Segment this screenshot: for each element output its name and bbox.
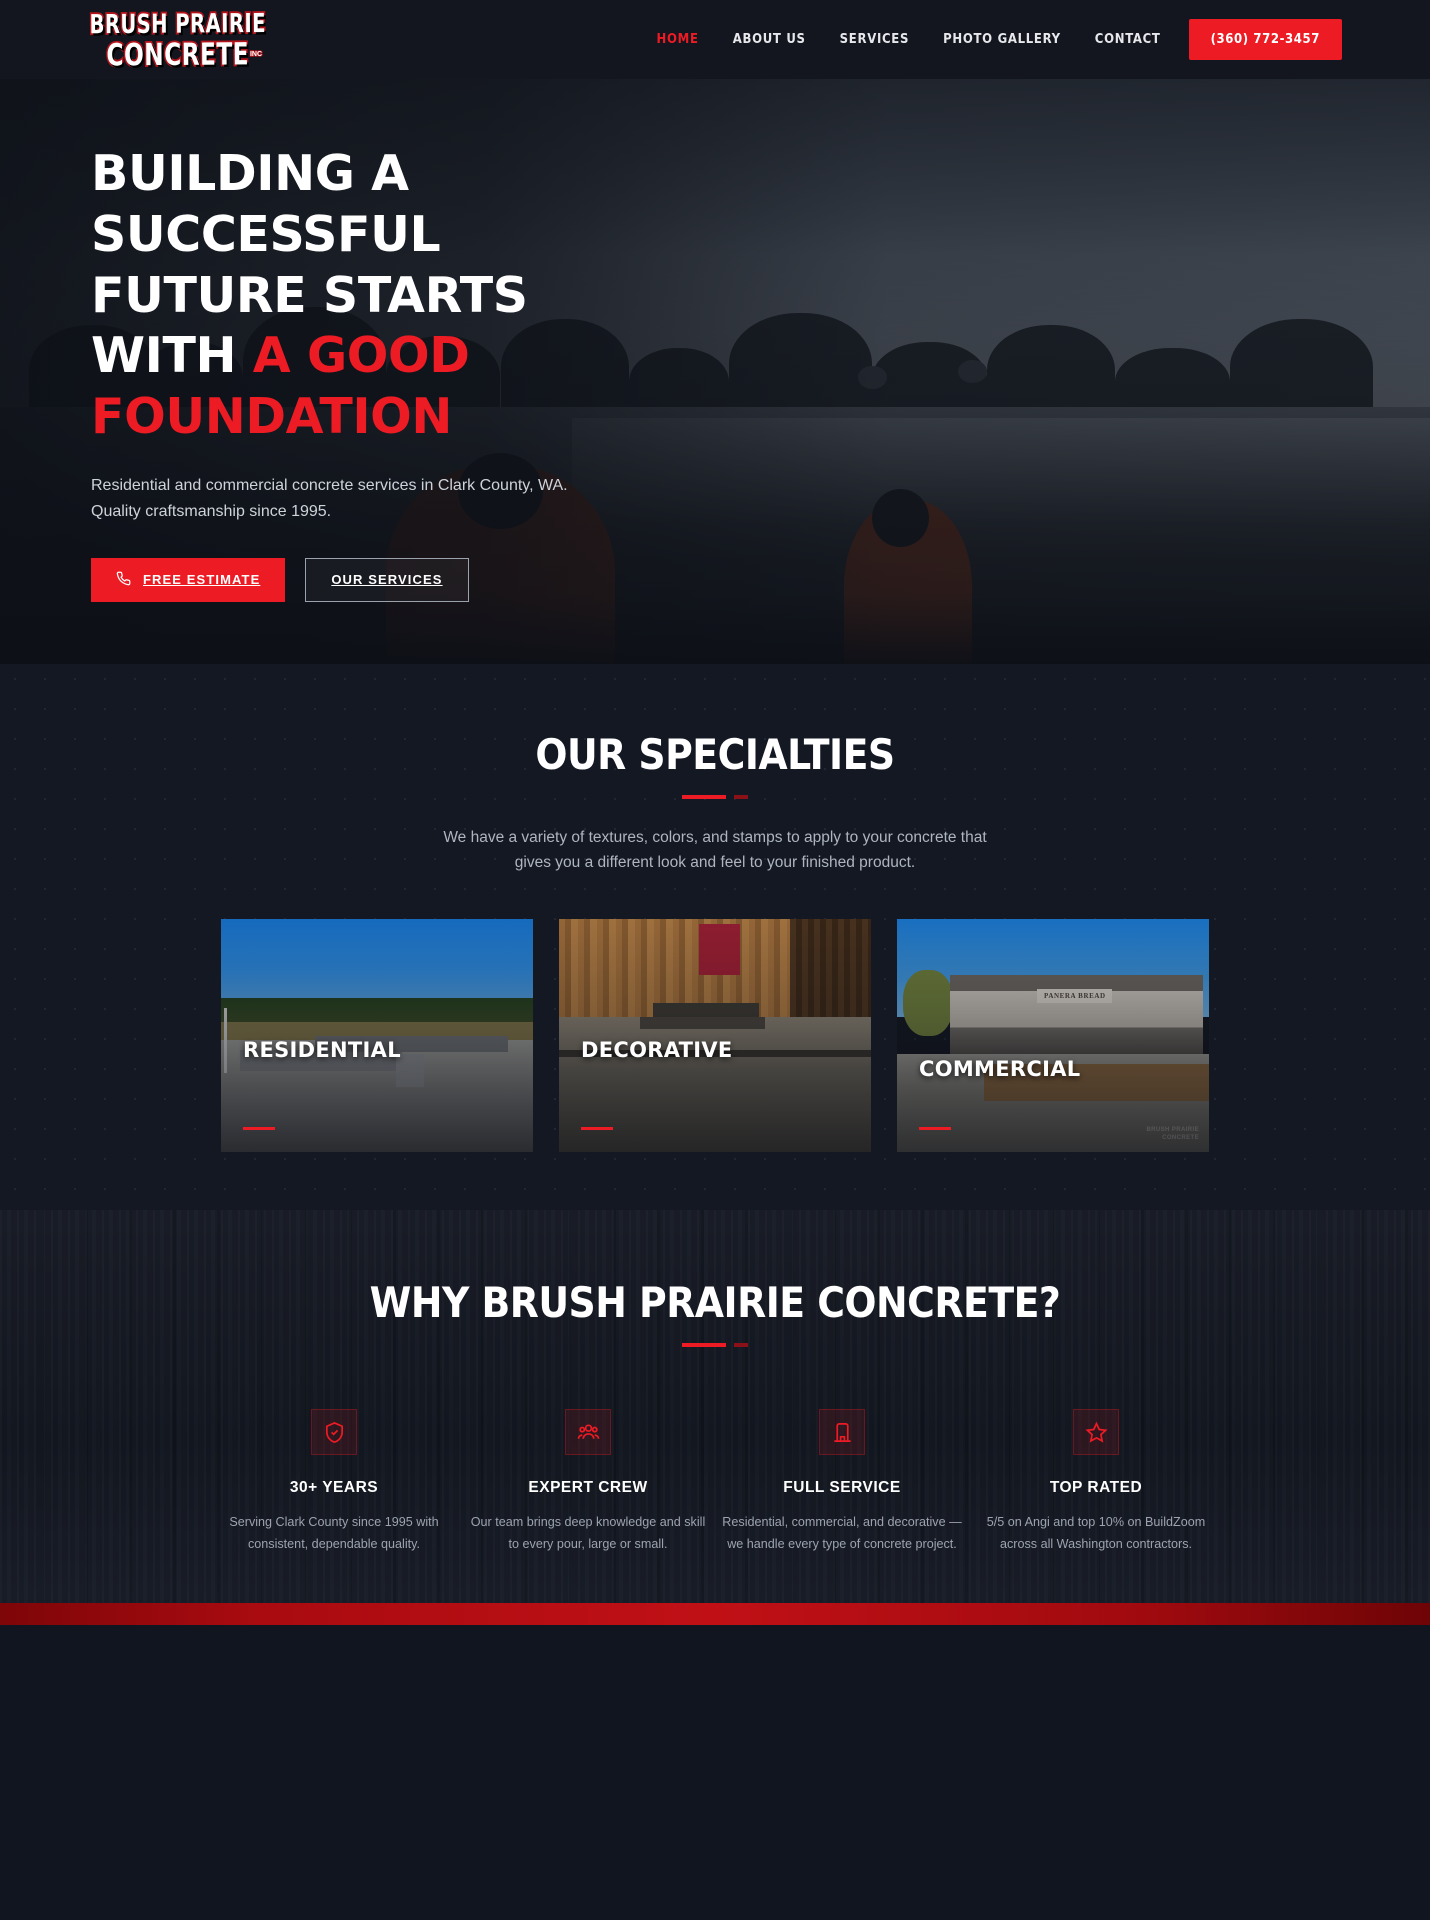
hero-heading-highlight-1: A GOOD [253,327,470,384]
feature-30-plus-years: 30+ YEARS Serving Clark County since 199… [207,1409,461,1555]
shield-check-icon [311,1409,357,1455]
site-header: BRUSH PRAIRIE CONCRETE INC HOME ABOUT US… [0,0,1430,79]
logo-line-1: BRUSH PRAIRIE [90,10,267,37]
feature-description: Our team brings deep knowledge and skill… [465,1511,711,1555]
specialties-divider [681,795,749,799]
specialties-section: OUR SPECIALTIES We have a variety of tex… [0,664,1430,1210]
hero-button-group: FREE ESTIMATE OUR SERVICES [91,558,1430,602]
free-estimate-button-label: FREE ESTIMATE [143,572,260,587]
feature-full-service: FULL SERVICE Residential, commercial, an… [715,1409,969,1555]
building-icon [819,1409,865,1455]
feature-title: EXPERT CREW [465,1479,711,1497]
hero-subtitle-line-2: Quality craftsmanship since 1995. [91,503,331,520]
feature-title: 30+ YEARS [211,1479,457,1497]
footer-red-strip [0,1603,1430,1625]
logo-line-2: CONCRETE [107,38,250,69]
feature-title: FULL SERVICE [719,1479,965,1497]
feature-title: TOP RATED [973,1479,1219,1497]
feature-list: 30+ YEARS Serving Clark County since 199… [0,1409,1430,1555]
specialty-card-residential[interactable]: RESIDENTIAL [221,919,533,1152]
hero-section: BUILDING A SUCCESSFUL FUTURE STARTS WITH… [0,79,1430,664]
specialty-card-accent-bar [581,1127,613,1130]
why-title: WHY BRUSH PRAIRIE CONCRETE? [0,1278,1430,1327]
feature-top-rated: TOP RATED 5/5 on Angi and top 10% on Bui… [969,1409,1223,1555]
free-estimate-button[interactable]: FREE ESTIMATE [91,558,285,602]
feature-description: Residential, commercial, and decorative … [719,1511,965,1555]
feature-description: 5/5 on Angi and top 10% on BuildZoomacro… [973,1511,1219,1555]
logo-inc-suffix: INC [250,51,262,58]
nav-item-about-us[interactable]: ABOUT US [733,32,806,47]
nav-item-contact[interactable]: CONTACT [1095,32,1161,47]
star-icon [1073,1409,1119,1455]
hero-heading-line-2: SUCCESSFUL [91,206,440,263]
hero-subtitle: Residential and commercial concrete serv… [91,473,611,525]
header-phone-button[interactable]: (360) 772-3457 [1189,19,1342,60]
specialties-description: We have a variety of textures, colors, a… [415,825,1015,875]
site-logo[interactable]: BRUSH PRAIRIE CONCRETE INC [88,9,268,71]
nav-item-home[interactable]: HOME [657,32,699,47]
why-choose-us-section: WHY BRUSH PRAIRIE CONCRETE? 30+ YEARS Se… [0,1210,1430,1625]
specialty-card-decorative[interactable]: DECORATIVE [559,919,871,1152]
specialty-card-label: RESIDENTIAL [243,1038,401,1062]
nav-item-photo-gallery[interactable]: PHOTO GALLERY [943,32,1061,47]
specialty-card-label: DECORATIVE [581,1038,733,1062]
specialty-card-list: RESIDENTIAL DECORATIVE [0,919,1430,1152]
feature-description: Serving Clark County since 1995 withcons… [211,1511,457,1555]
why-divider [681,1343,749,1347]
nav-item-services[interactable]: SERVICES [840,32,909,47]
specialties-description-line-1: We have a variety of textures, colors, a… [443,829,986,846]
hero-heading-line-4: WITH [91,327,253,384]
hero-heading-line-3: FUTURE STARTS [91,267,528,324]
specialties-description-line-2: gives you a different look and feel to y… [515,854,915,871]
hero-subtitle-line-1: Residential and commercial concrete serv… [91,477,568,494]
feature-expert-crew: EXPERT CREW Our team brings deep knowled… [461,1409,715,1555]
specialty-card-accent-bar [243,1127,275,1130]
specialty-card-label: COMMERCIAL [919,1057,1080,1081]
phone-icon [116,571,131,589]
hero-heading-line-1: BUILDING A [91,145,409,202]
our-services-button-label: OUR SERVICES [331,572,442,587]
users-icon [565,1409,611,1455]
specialties-title: OUR SPECIALTIES [0,730,1430,779]
hero-heading-highlight-2: FOUNDATION [91,388,452,445]
specialty-card-accent-bar [919,1127,951,1130]
our-services-button[interactable]: OUR SERVICES [305,558,468,602]
main-navigation: HOME ABOUT US SERVICES PHOTO GALLERY CON… [657,19,1342,60]
hero-heading: BUILDING A SUCCESSFUL FUTURE STARTS WITH… [91,144,561,448]
specialty-card-commercial[interactable]: PANERA BREAD BRUSH PRAIRIE CONCRETE COMM… [897,919,1209,1152]
